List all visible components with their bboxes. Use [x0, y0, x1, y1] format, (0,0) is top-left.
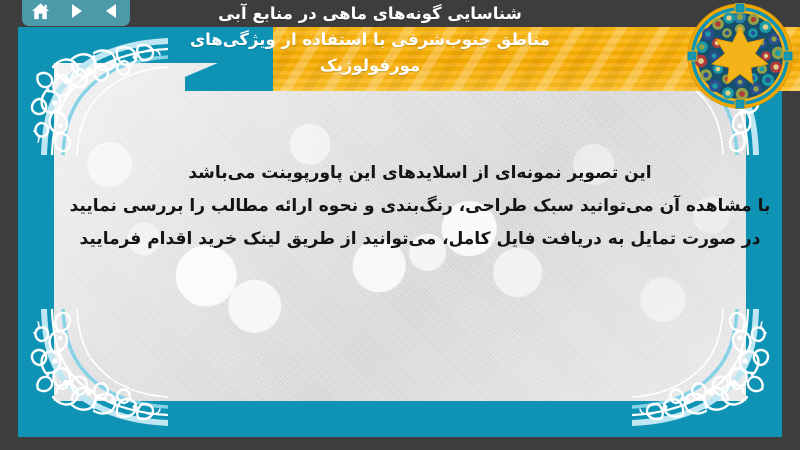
- slide-title: شناسایی گونه‌های ماهی در منابع آبی مناطق…: [130, 1, 610, 79]
- body-line-3: در صورت تمایل به دریافت فایل کامل، می‌تو…: [54, 223, 782, 256]
- home-icon[interactable]: [27, 0, 53, 22]
- persian-medallion-icon: [687, 3, 793, 109]
- slide-body-text: این تصویر نمونه‌ای از اسلایدهای این پاور…: [54, 157, 782, 256]
- next-icon[interactable]: [63, 0, 89, 22]
- navigation-bar: [22, 0, 130, 26]
- body-line-2: با مشاهده آن می‌توانید سبک طراحی، رنگ‌بن…: [54, 190, 782, 223]
- slide-canvas: این تصویر نمونه‌ای از اسلایدهای این پاور…: [0, 0, 800, 450]
- body-line-1: این تصویر نمونه‌ای از اسلایدهای این پاور…: [54, 157, 782, 190]
- previous-icon[interactable]: [99, 0, 125, 22]
